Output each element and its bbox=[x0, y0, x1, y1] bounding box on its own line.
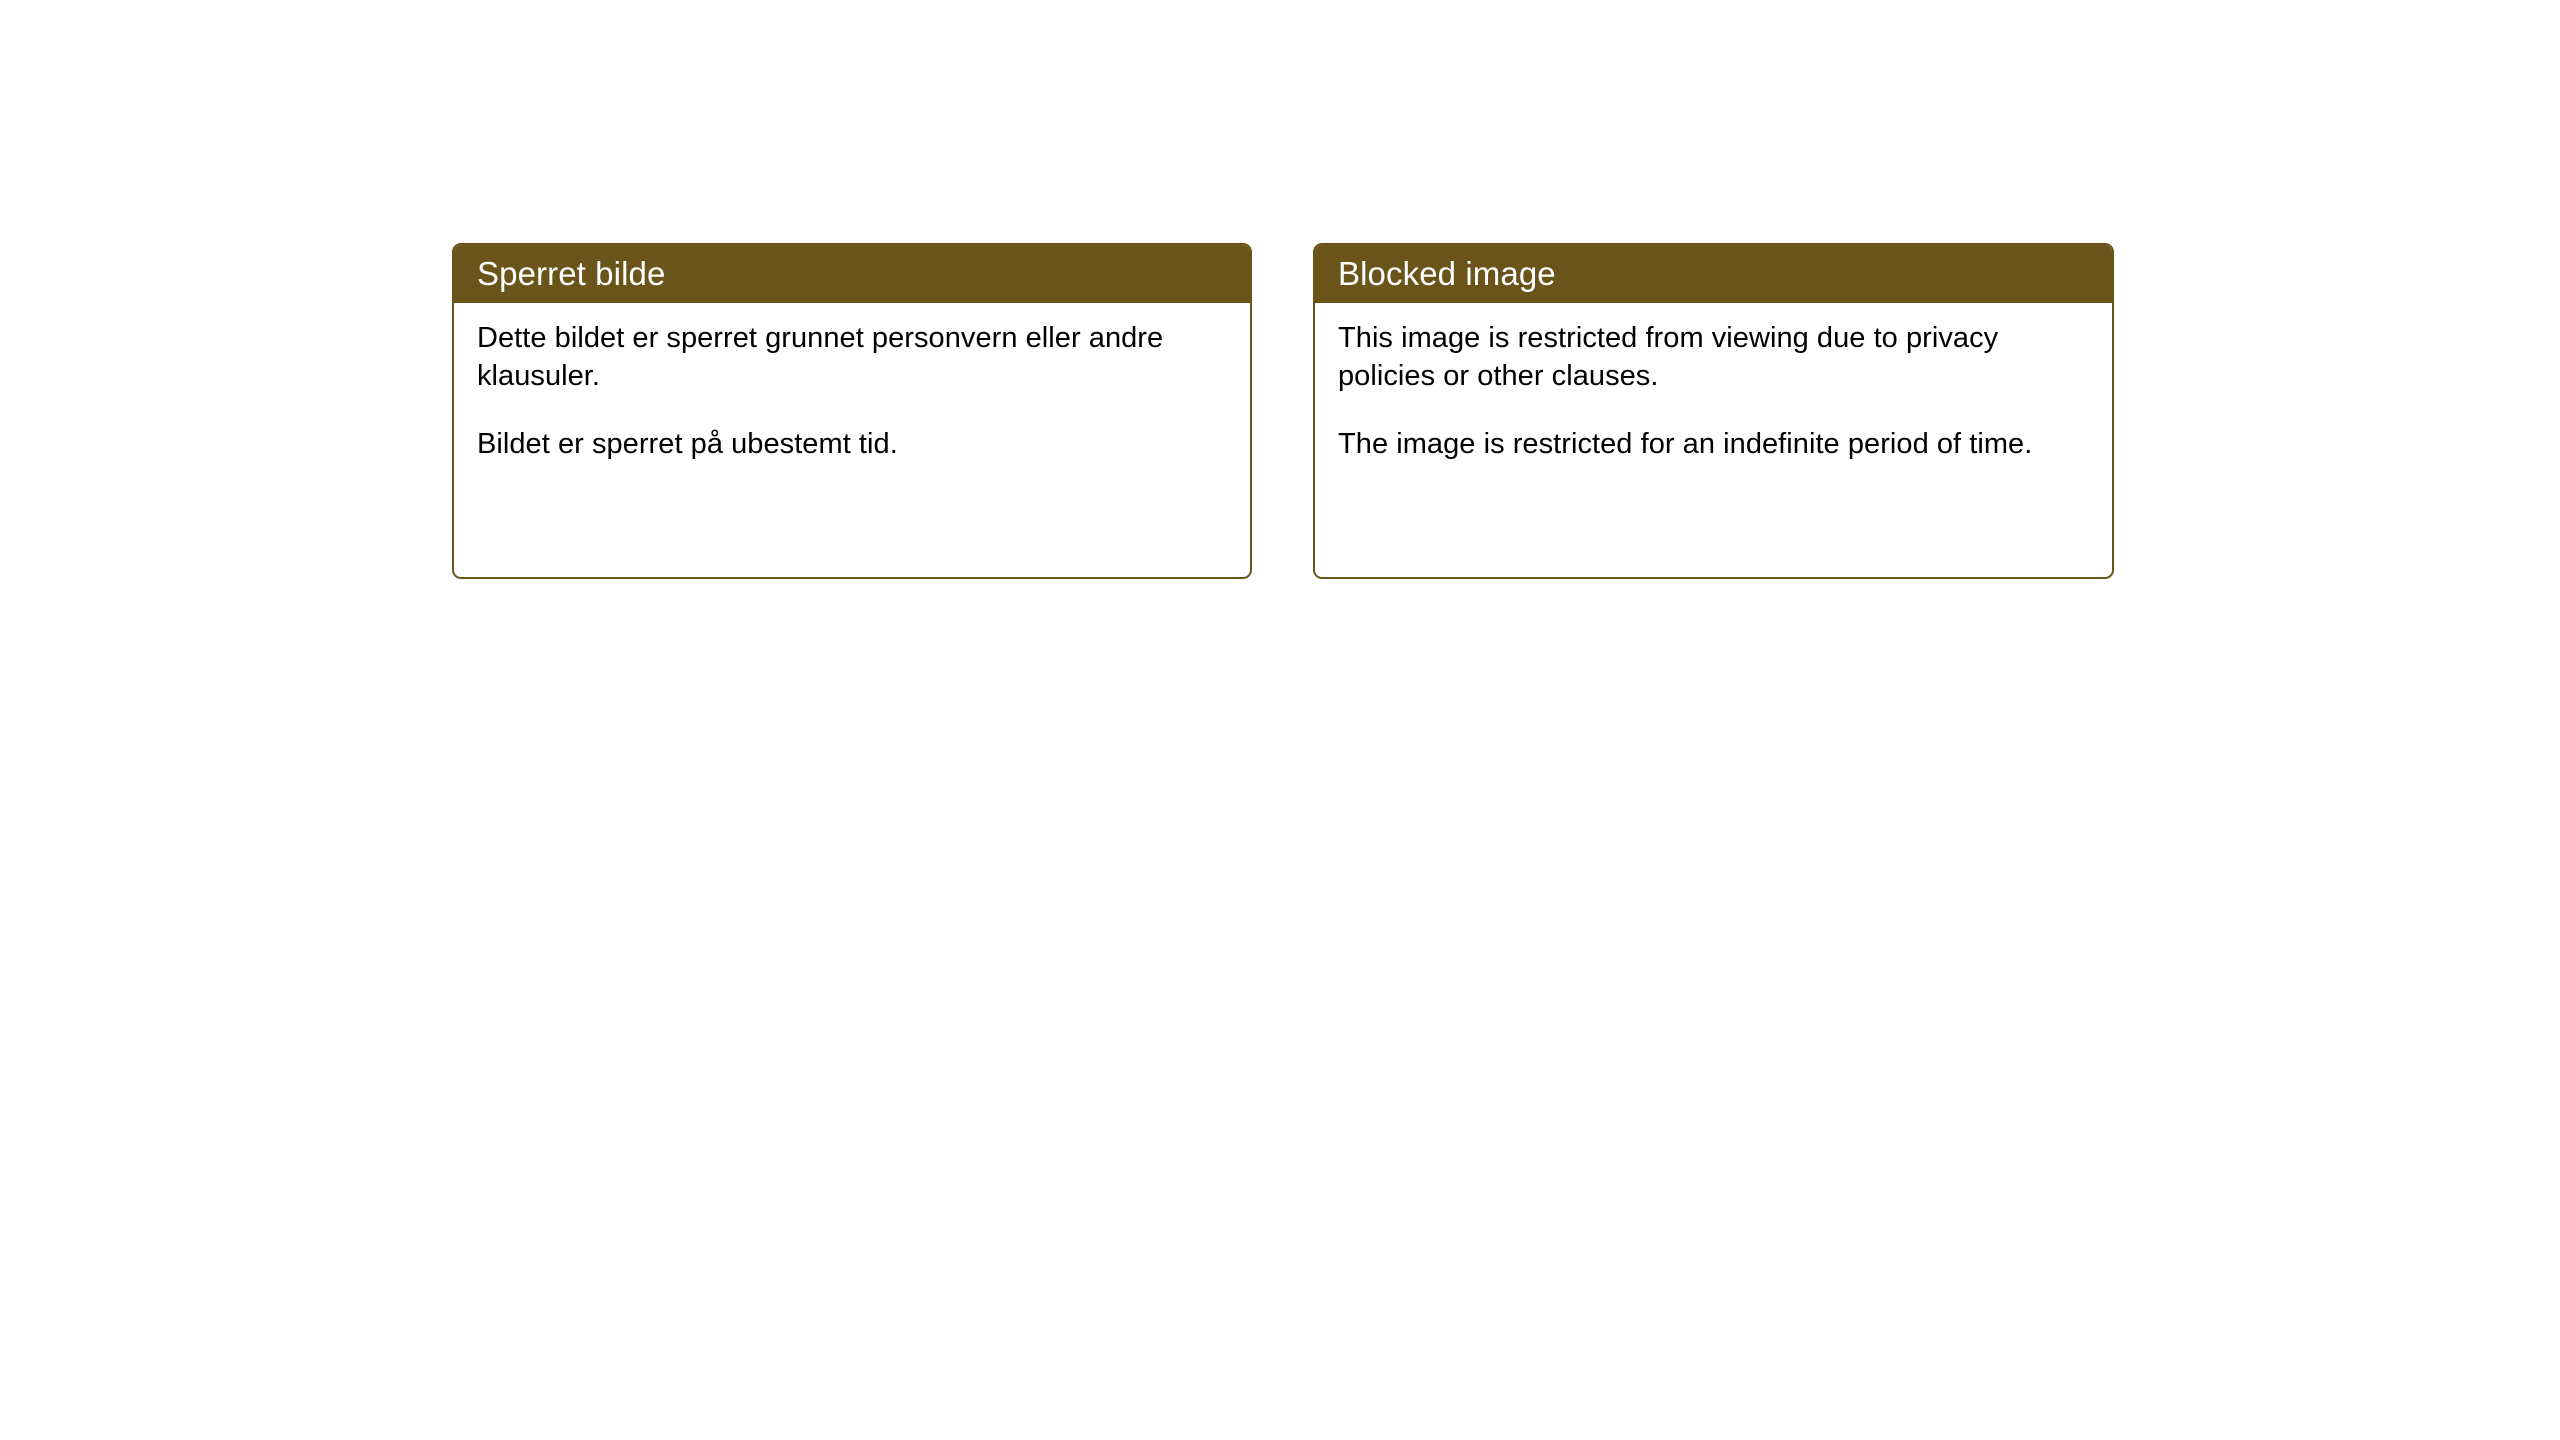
card-header-norwegian: Sperret bilde bbox=[454, 245, 1250, 303]
card-body-norwegian: Dette bildet er sperret grunnet personve… bbox=[454, 303, 1250, 463]
blocked-image-notice-card-english: Blocked image This image is restricted f… bbox=[1313, 243, 2114, 579]
paragraph-spacer bbox=[477, 396, 1228, 425]
card-header-english: Blocked image bbox=[1315, 245, 2112, 303]
card-paragraph-primary-english: This image is restricted from viewing du… bbox=[1338, 319, 2090, 396]
card-title-norwegian: Sperret bilde bbox=[477, 257, 665, 290]
card-body-english: This image is restricted from viewing du… bbox=[1315, 303, 2112, 463]
card-paragraph-secondary-english: The image is restricted for an indefinit… bbox=[1338, 425, 2090, 463]
card-paragraph-secondary-norwegian: Bildet er sperret på ubestemt tid. bbox=[477, 425, 1228, 463]
card-paragraph-primary-norwegian: Dette bildet er sperret grunnet personve… bbox=[477, 319, 1228, 396]
card-title-english: Blocked image bbox=[1338, 257, 1556, 290]
paragraph-spacer bbox=[1338, 396, 2090, 425]
page-background: Sperret bilde Dette bildet er sperret gr… bbox=[0, 0, 2560, 1440]
blocked-image-notice-card-norwegian: Sperret bilde Dette bildet er sperret gr… bbox=[452, 243, 1252, 579]
